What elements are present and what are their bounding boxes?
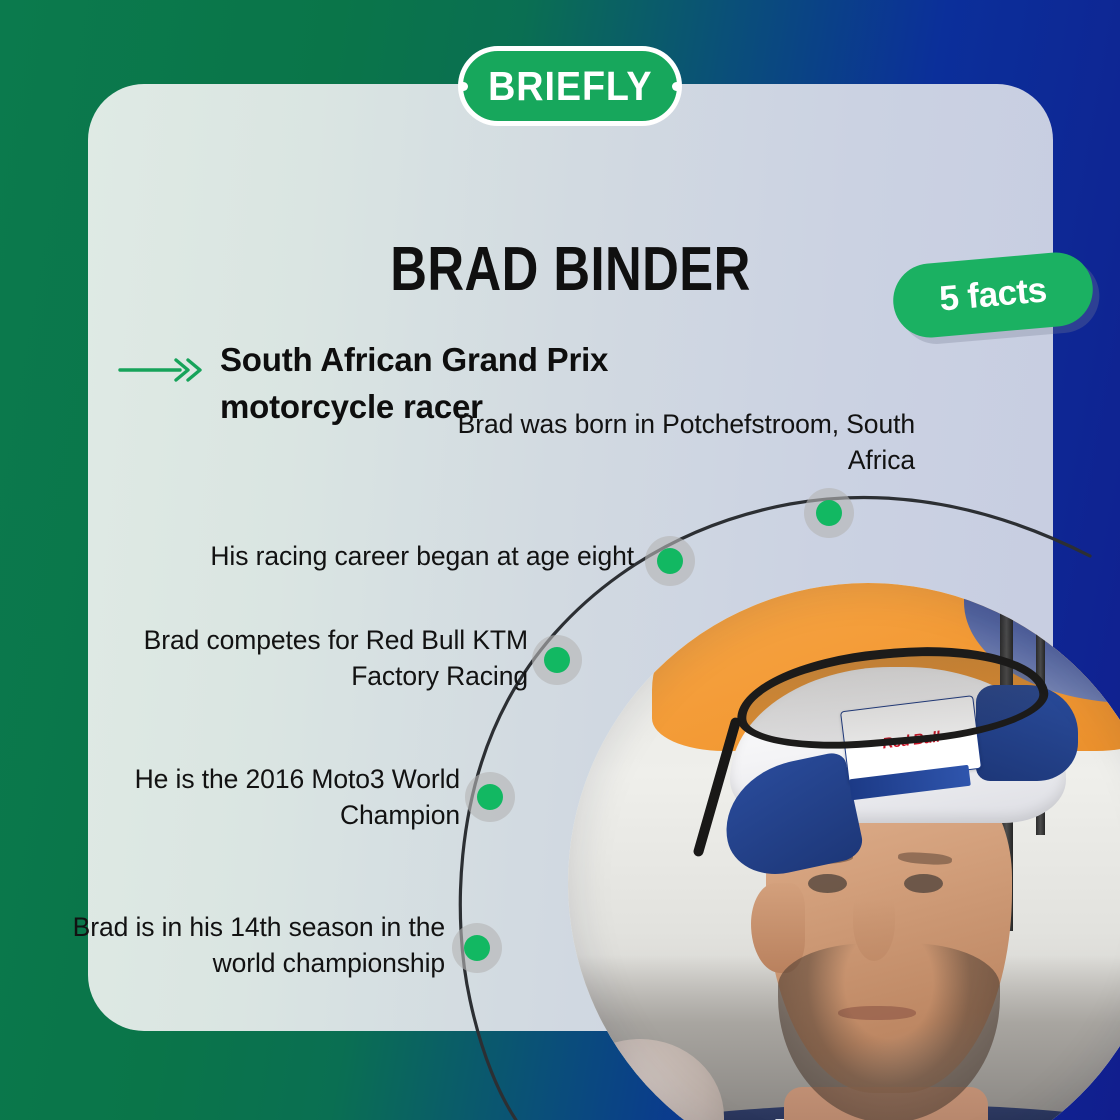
- fact-label-0: Brad was born in Potchefstroom, South Af…: [430, 406, 915, 478]
- facts-count-label: 5 facts: [938, 270, 1048, 319]
- portrait-photo: Red Bull: [568, 583, 1120, 1120]
- infographic-canvas: BRAD BINDER South African Grand Prix mot…: [0, 0, 1120, 1120]
- fact-label-4: Brad is in his 14th season in the world …: [60, 909, 445, 981]
- bullet-dot-left-icon: [459, 82, 468, 91]
- bullet-dot-right-icon: [672, 82, 681, 91]
- fact-label-2: Brad competes for Red Bull KTM Factory R…: [100, 622, 528, 694]
- fact-label-3: He is the 2016 Moto3 World Champion: [100, 761, 460, 833]
- photo-eye-right: [904, 874, 943, 893]
- photo-eye-left: [808, 874, 847, 893]
- briefly-logo-badge[interactable]: BRIEFLY: [458, 46, 682, 126]
- fact-label-1: His racing career began at age eight: [140, 538, 634, 574]
- briefly-logo-text: BRIEFLY: [488, 66, 652, 107]
